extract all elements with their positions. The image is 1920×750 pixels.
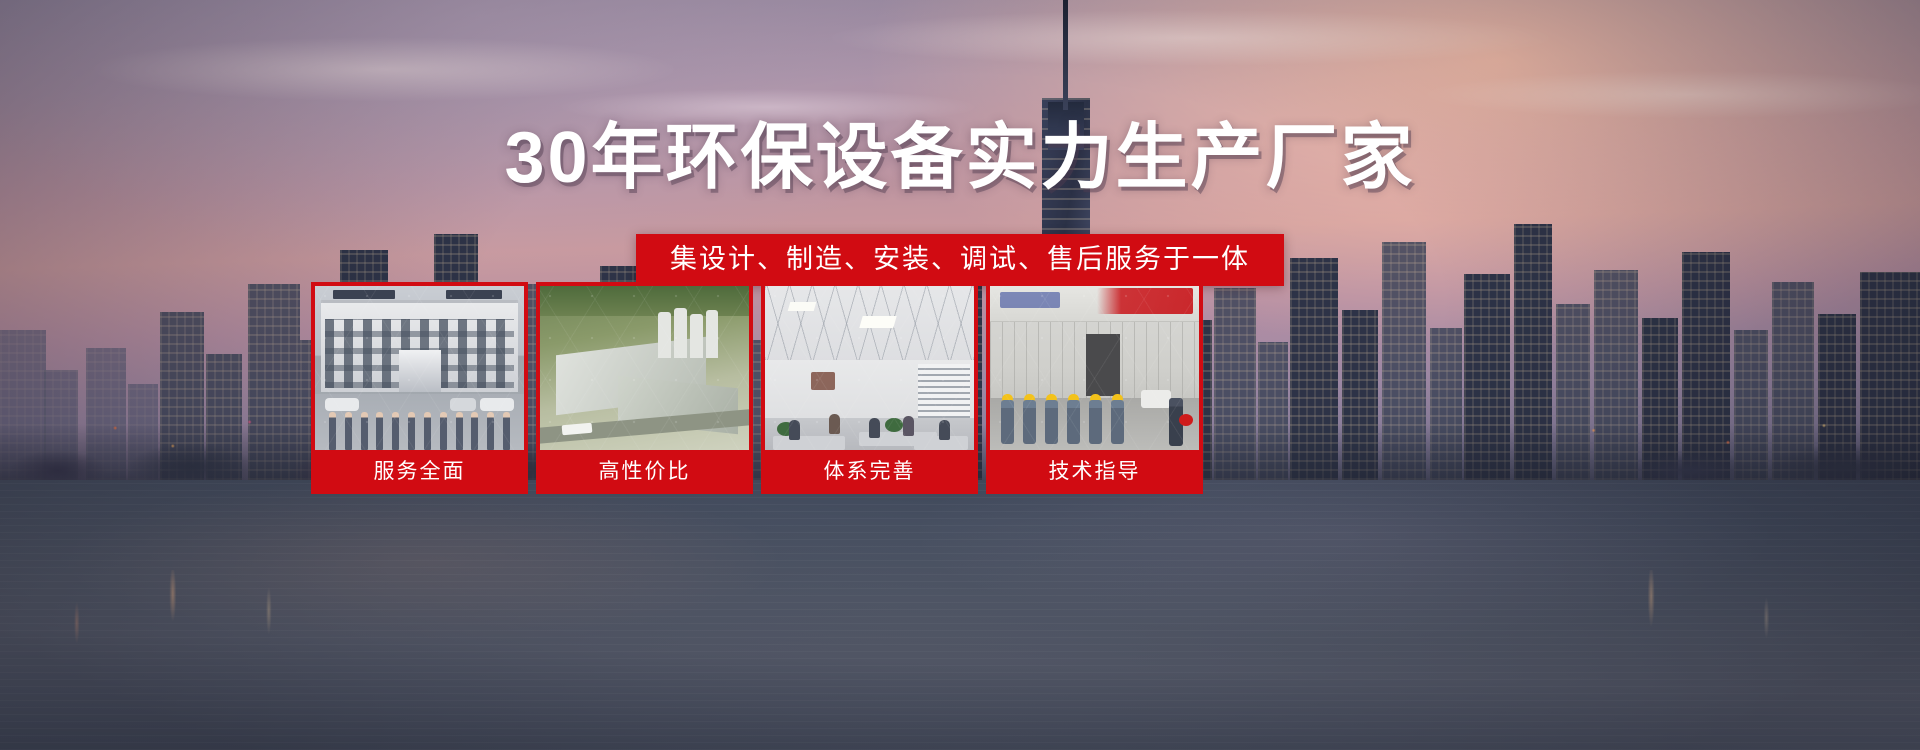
feature-card[interactable]: 服务全面 [311,282,528,494]
banner-subtitle: 集设计、制造、安装、调试、售后服务于一体 [636,234,1284,286]
card-photo-office-interior [765,286,974,450]
card-photo-workshop-training [990,286,1199,450]
card-caption: 技术指导 [990,450,1199,490]
card-caption: 高性价比 [540,450,749,490]
card-caption: 体系完善 [765,450,974,490]
feature-card[interactable]: 体系完善 [761,282,978,494]
feature-card-list: 服务全面 高性价比 [311,282,1561,494]
banner-headline: 30年环保设备实力生产厂家 [0,98,1920,203]
banner-content: 30年环保设备实力生产厂家 集设计、制造、安装、调试、售后服务于一体 服务全面 [0,0,1920,750]
card-caption: 服务全面 [315,450,524,490]
banner-subtitle-wrap: 集设计、制造、安装、调试、售后服务于一体 [0,234,1920,286]
feature-card[interactable]: 高性价比 [536,282,753,494]
card-photo-production-base [540,286,749,450]
feature-card[interactable]: 技术指导 [986,282,1203,494]
card-photo-office-building [315,286,524,450]
hero-banner: 30年环保设备实力生产厂家 集设计、制造、安装、调试、售后服务于一体 服务全面 [0,0,1920,750]
